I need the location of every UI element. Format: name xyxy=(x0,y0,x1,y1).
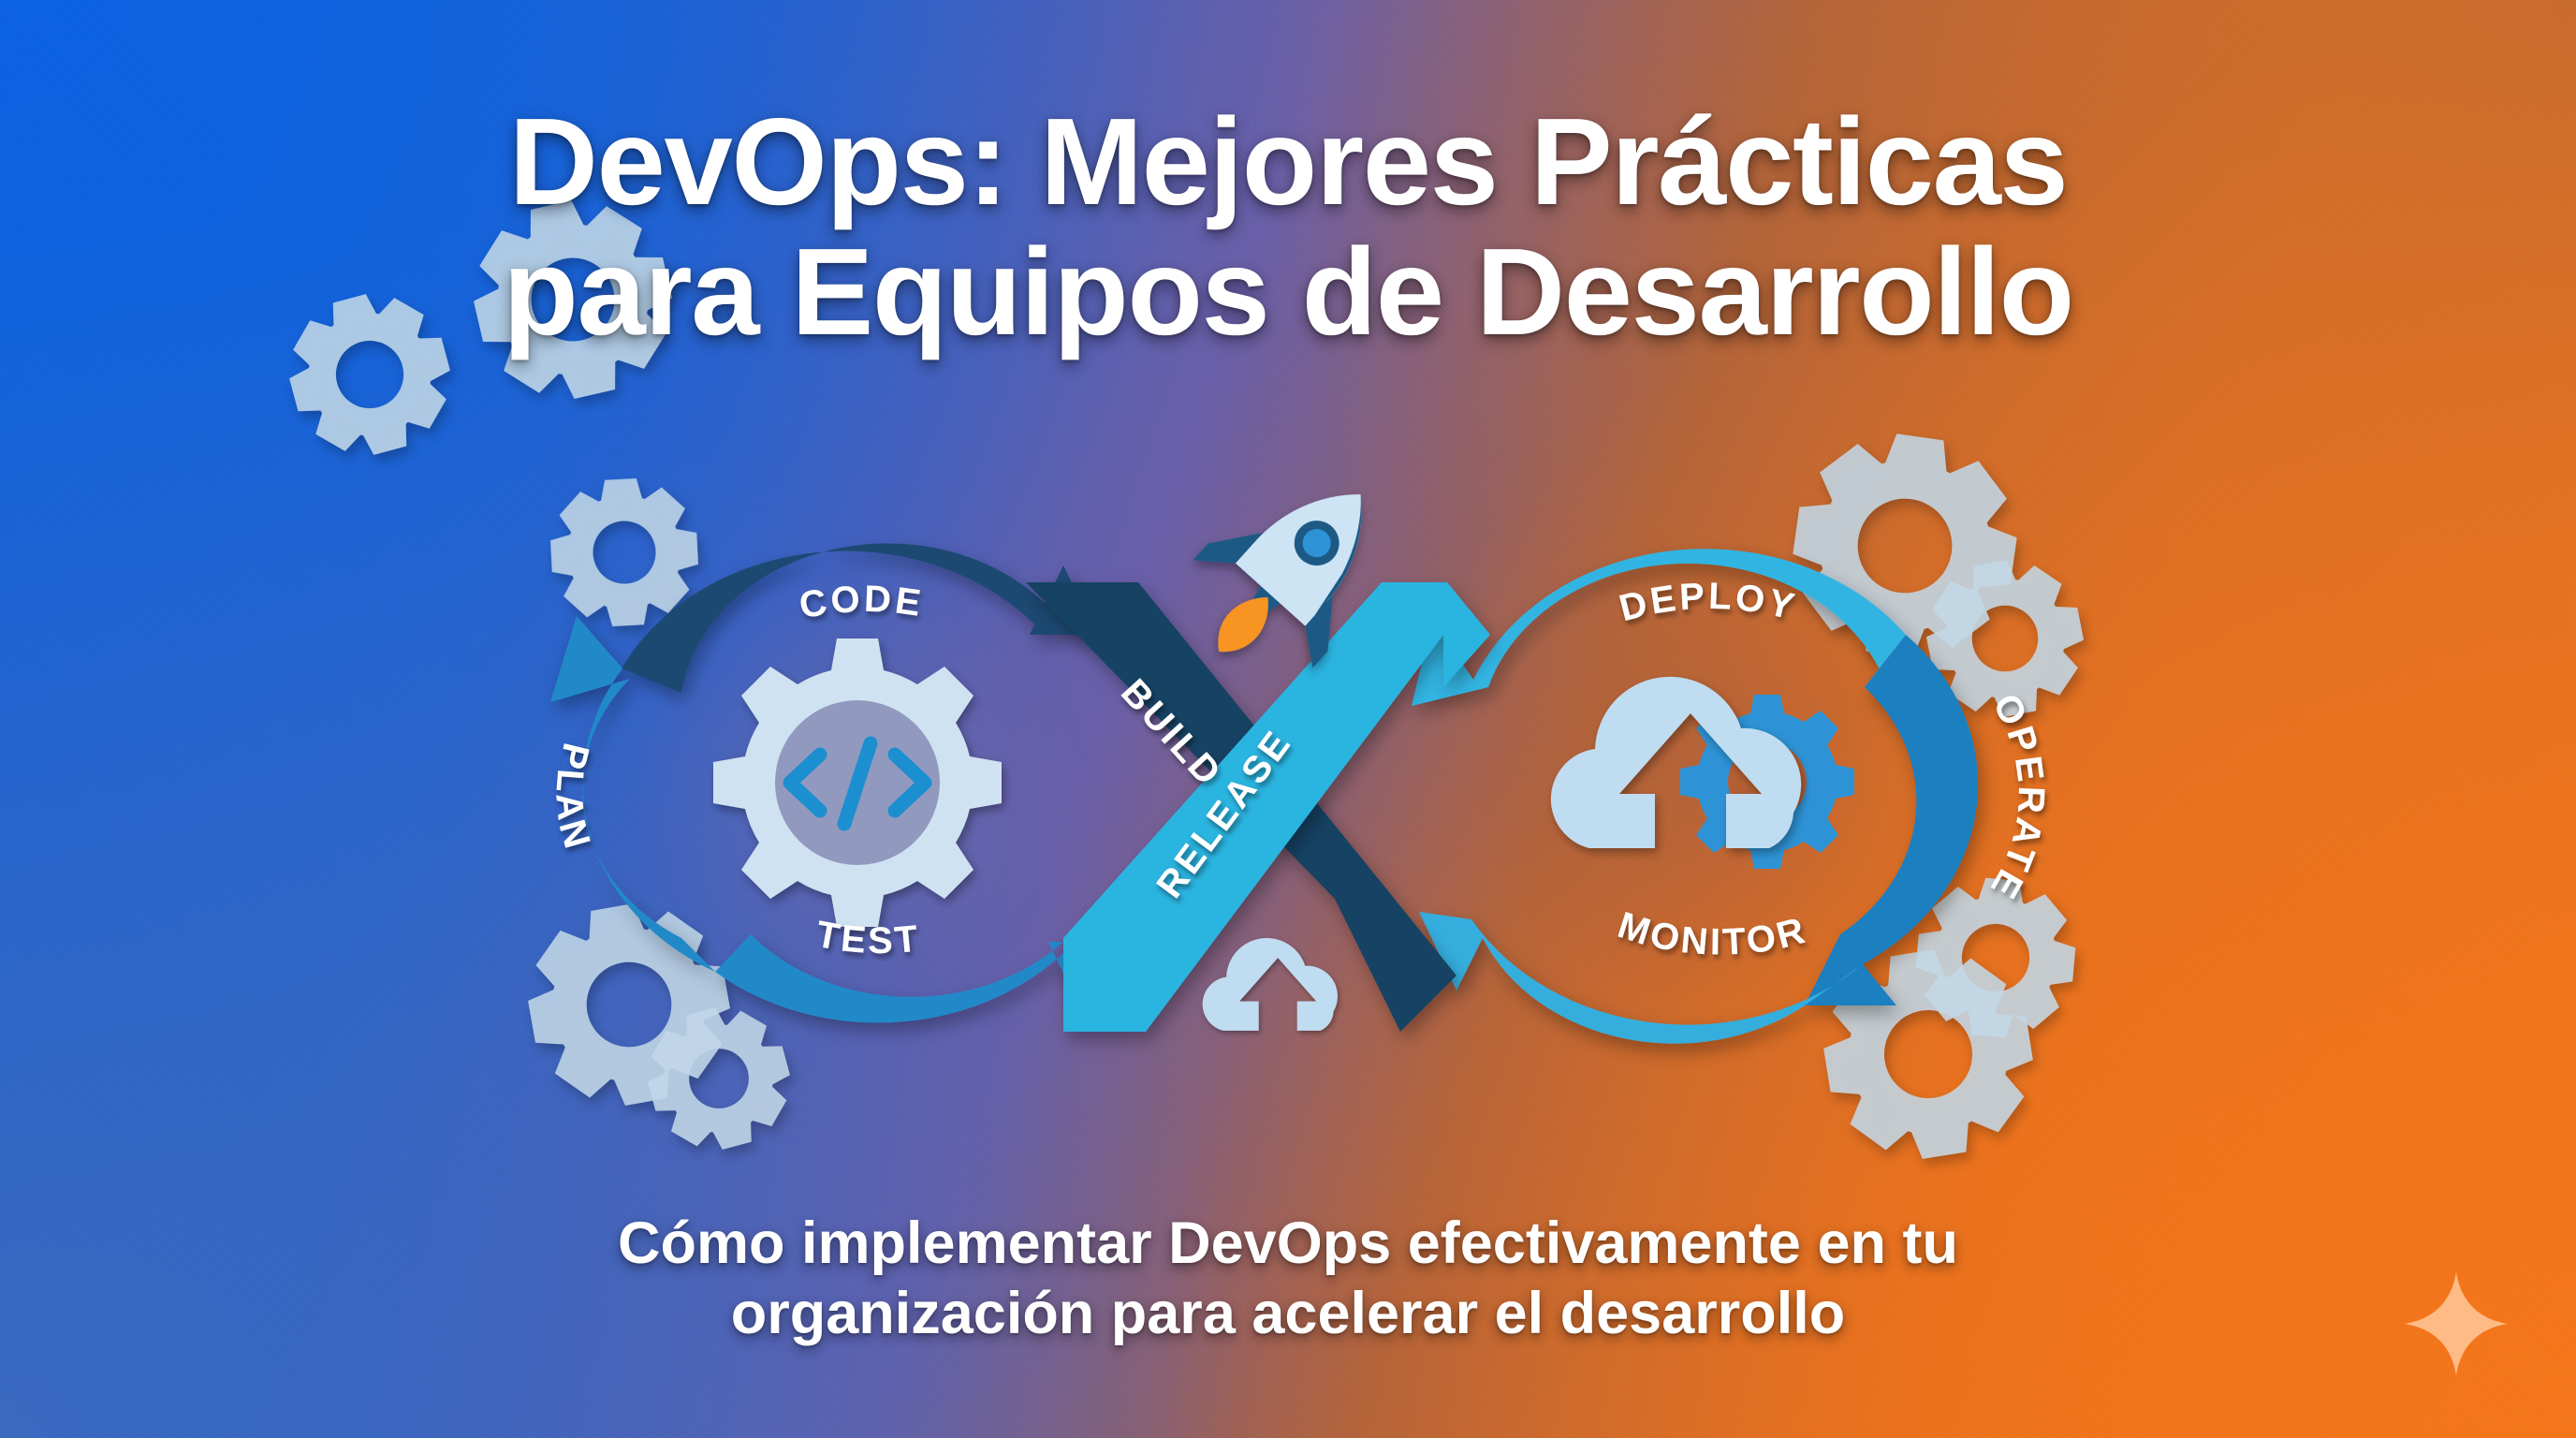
infographic-canvas: DevOps: Mejores Prácticas para Equipos d… xyxy=(0,0,2576,1438)
label-plan: PLAN xyxy=(548,739,598,855)
subtitle-line-1: Cómo implementar DevOps efectivamente en… xyxy=(0,1209,2576,1278)
label-code: CODE xyxy=(797,579,927,627)
subtitle-line-2: organización para acelerar el desarrollo xyxy=(0,1279,2576,1348)
page-subtitle: Cómo implementar DevOps efectivamente en… xyxy=(0,1209,2576,1348)
label-operate: OPERATE xyxy=(1981,687,2052,907)
title-line-2: para Equipos de Desarrollo xyxy=(0,227,2576,358)
title-line-1: DevOps: Mejores Prácticas xyxy=(0,97,2576,227)
page-title: DevOps: Mejores Prácticas para Equipos d… xyxy=(0,97,2576,357)
cloud-upload-icon xyxy=(1203,938,1338,1031)
sparkle-icon xyxy=(2400,1268,2512,1380)
code-gear-icon xyxy=(713,638,1002,927)
devops-infinity-diagram: CODE TEST PLAN BUILD RELEASE DEPLOY xyxy=(464,451,2112,1107)
